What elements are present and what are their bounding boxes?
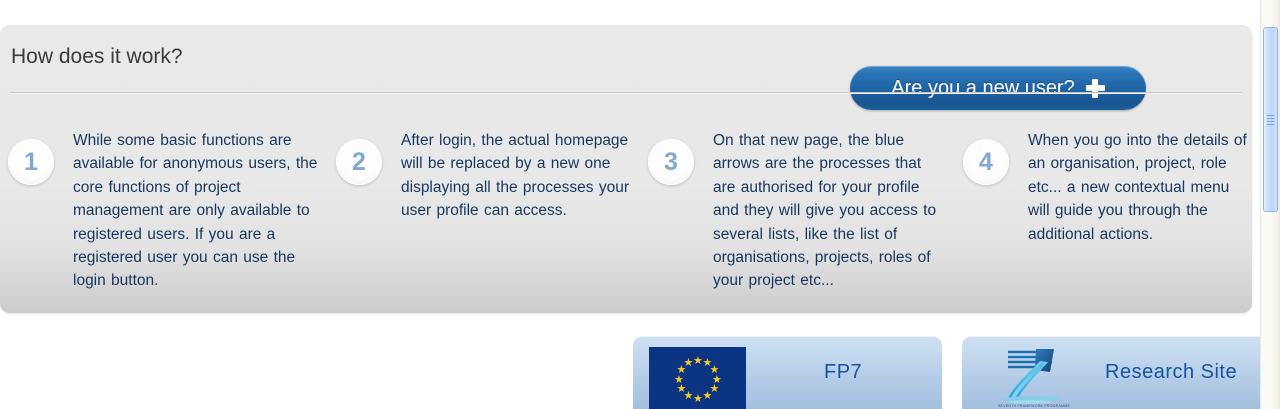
step-description: On that new page, the blue arrows are th… [713,129,943,293]
step-item-1: 1 While some basic functions are availab… [0,129,332,293]
are-you-a-new-user-button[interactable]: Are you a new user? [850,66,1146,110]
eu-flag-star: ★ [693,395,702,404]
step-number-badge: 2 [336,139,382,185]
fp7-logo-caption: SEVENTH FRAMEWORK PROGRAMME [988,404,1080,408]
page-root: How does it work? Are you a new user? 1 … [0,0,1280,409]
footer-link-buttons: ★★★★★★★★★★★★ FP7 [633,336,1271,409]
vertical-scrollbar-track[interactable] [1260,0,1280,409]
step-number-badge: 1 [8,139,54,185]
step-description: After login, the actual homepage will be… [401,129,629,223]
page-title: How does it work? [11,45,183,69]
step-item-4: 4 When you go into the details of an org… [959,129,1249,293]
eu-flag-icon: ★★★★★★★★★★★★ [649,347,746,409]
research-site-link-button[interactable]: SEVENTH FRAMEWORK PROGRAMME Research Sit… [962,336,1271,409]
panel-header: How does it work? Are you a new user? [0,25,1252,93]
step-item-2: 2 After login, the actual homepage will … [332,129,644,293]
new-user-button-label: Are you a new user? [891,77,1074,100]
fp7-link-label: FP7 [761,336,942,409]
research-site-link-label: Research Site [1090,336,1271,409]
step-number-badge: 3 [648,139,694,185]
step-item-3: 3 On that new page, the blue arrows are … [644,129,959,293]
steps-list: 1 While some basic functions are availab… [0,129,1252,293]
fp7-seven-logo-icon: SEVENTH FRAMEWORK PROGRAMME [978,340,1082,409]
vertical-scrollbar-thumb[interactable] [1263,27,1278,212]
eu-flag-star: ★ [693,357,702,366]
plus-icon [1086,79,1105,98]
eu-flag-star: ★ [684,359,693,368]
eu-flag-star: ★ [677,385,686,394]
scrollbar-grip-icon [1267,115,1274,125]
how-it-works-panel: How does it work? Are you a new user? 1 … [0,25,1252,313]
header-divider [10,92,1242,94]
eu-flag-star: ★ [674,376,683,385]
seven-logo-svg [978,340,1082,409]
fp7-link-button[interactable]: ★★★★★★★★★★★★ FP7 [633,336,942,409]
step-number-badge: 4 [963,139,1009,185]
eu-flag-star: ★ [703,392,712,401]
step-description: When you go into the details of an organ… [1028,129,1249,246]
step-description: While some basic functions are available… [73,129,318,293]
